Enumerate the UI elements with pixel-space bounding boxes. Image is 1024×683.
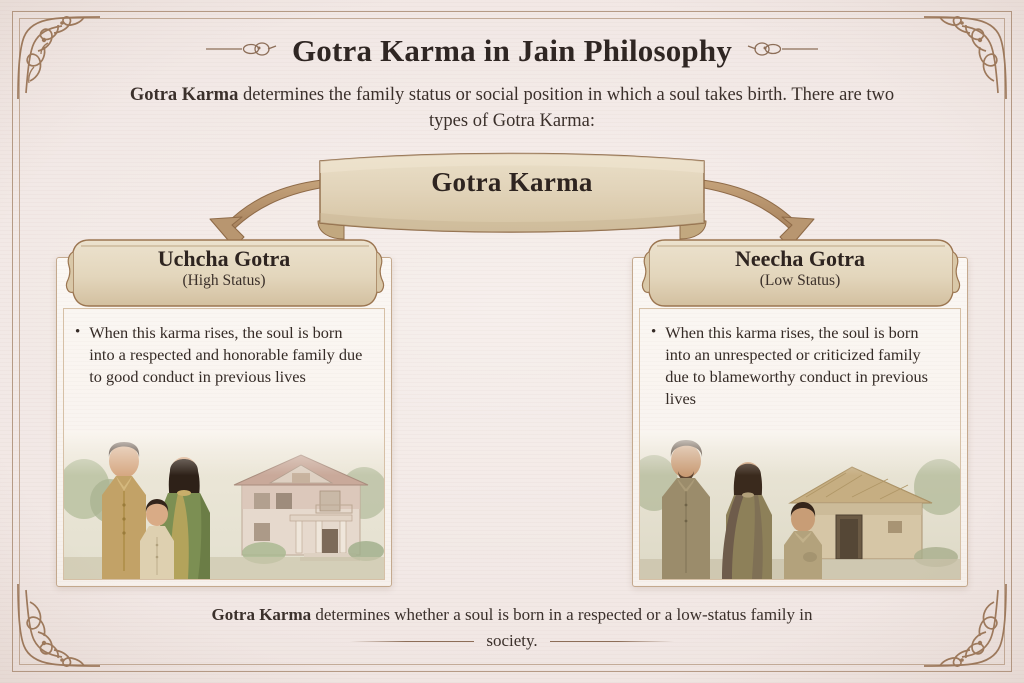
subtitle-rest: determines the family status or social p… <box>238 85 894 131</box>
card-bullet-list: • When this karma rises, the soul is bor… <box>57 314 391 388</box>
card-bullet-list: • When this karma rises, the soul is bor… <box>633 314 967 411</box>
footer-last-word: society. <box>486 631 537 651</box>
title-flourish-left-icon <box>204 41 278 62</box>
list-item: • When this karma rises, the soul is bor… <box>75 322 371 388</box>
bullet-text: When this karma rises, the soul is born … <box>665 322 947 411</box>
content-area: Gotra Karma in Jain Philosophy Gotra Kar… <box>34 24 990 659</box>
list-item: • When this karma rises, the soul is bor… <box>651 322 947 411</box>
card-header-neecha: Neecha Gotra (Low Status) <box>641 234 959 312</box>
card-uchcha-gotra[interactable]: Uchcha Gotra (High Status) • When this k… <box>56 257 392 587</box>
footer-bold-term: Gotra Karma <box>212 605 312 624</box>
footer-rule-left <box>350 641 474 642</box>
page-subtitle: Gotra Karma determines the family status… <box>122 82 902 135</box>
card-header-text: Neecha Gotra (Low Status) <box>641 246 959 290</box>
illustration-poor-family <box>640 431 960 579</box>
infographic-page: Gotra Karma in Jain Philosophy Gotra Kar… <box>0 0 1024 683</box>
card-neecha-gotra[interactable]: Neecha Gotra (Low Status) • When this ka… <box>632 257 968 587</box>
title-flourish-right-icon <box>746 41 820 62</box>
footer-line-two: society. <box>34 631 990 651</box>
page-title-row: Gotra Karma in Jain Philosophy <box>34 33 990 69</box>
card-subtitle: (Low Status) <box>641 272 959 290</box>
footer-line-one: Gotra Karma determines whether a soul is… <box>34 603 990 627</box>
illustration-prosperous-family <box>64 431 384 579</box>
footer-rule-right <box>550 641 674 642</box>
gotra-cards-container: Uchcha Gotra (High Status) • When this k… <box>34 257 990 587</box>
card-subtitle: (High Status) <box>65 272 383 290</box>
subtitle-bold-term: Gotra Karma <box>130 85 238 105</box>
bullet-text: When this karma rises, the soul is born … <box>89 322 371 388</box>
footer-summary: Gotra Karma determines whether a soul is… <box>34 603 990 651</box>
bullet-dot-icon: • <box>75 322 80 388</box>
card-header-text: Uchcha Gotra (High Status) <box>65 246 383 290</box>
card-title: Neecha Gotra <box>641 246 959 271</box>
page-title: Gotra Karma in Jain Philosophy <box>292 33 732 69</box>
banner-label: Gotra Karma <box>34 167 990 198</box>
card-header-uchcha: Uchcha Gotra (High Status) <box>65 234 383 312</box>
card-title: Uchcha Gotra <box>65 246 383 271</box>
bullet-dot-icon: • <box>651 322 656 411</box>
footer-rest: determines whether a soul is born in a r… <box>311 605 812 624</box>
